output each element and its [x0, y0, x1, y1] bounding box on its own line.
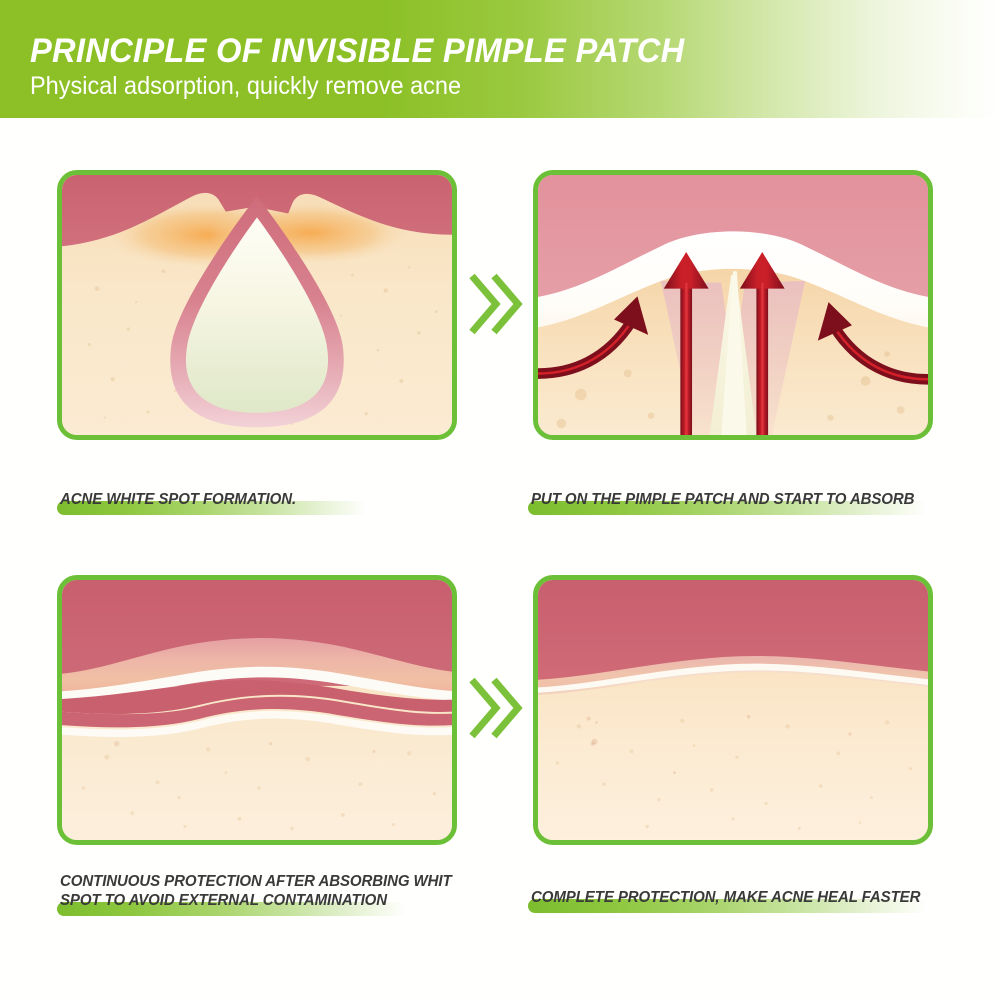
page-header: PRINCIPLE OF INVISIBLE PIMPLE PATCH Phys… [0, 0, 1000, 118]
acne-white-spot-diagram [62, 175, 452, 435]
step-4-caption-group: COMPLETE PROTECTION, MAKE ACNE HEAL FAST… [528, 888, 958, 920]
step-1-illustration [57, 170, 457, 440]
step-3-illustration [57, 575, 457, 845]
flow-arrow-step1-to-step2 [468, 268, 524, 340]
step-2-illustration [533, 170, 933, 440]
page-title: PRINCIPLE OF INVISIBLE PIMPLE PATCH [30, 32, 684, 71]
step-3-caption-group: CONTINUOUS PROTECTION AFTER ABSORBING WH… [57, 872, 477, 922]
double-chevron-right-icon [468, 672, 524, 744]
step-1-caption-group: ACNE WHITE SPOT FORMATION. [57, 490, 457, 522]
patch-absorbing-diagram [538, 175, 928, 435]
flow-arrow-step3-to-step4 [468, 672, 524, 744]
healed-skin-diagram [538, 580, 928, 840]
step-3-caption: CONTINUOUS PROTECTION AFTER ABSORBING WH… [60, 872, 452, 910]
step-1-caption: ACNE WHITE SPOT FORMATION. [60, 490, 296, 509]
step-2-caption-group: PUT ON THE PIMPLE PATCH AND START TO ABS… [528, 490, 948, 522]
step-2-caption: PUT ON THE PIMPLE PATCH AND START TO ABS… [531, 490, 914, 509]
step-4-illustration [533, 575, 933, 845]
step-4-caption: COMPLETE PROTECTION, MAKE ACNE HEAL FAST… [531, 888, 920, 907]
protected-healing-diagram [62, 580, 452, 840]
page-subtitle: Physical adsorption, quickly remove acne [30, 72, 461, 101]
double-chevron-right-icon [468, 268, 524, 340]
